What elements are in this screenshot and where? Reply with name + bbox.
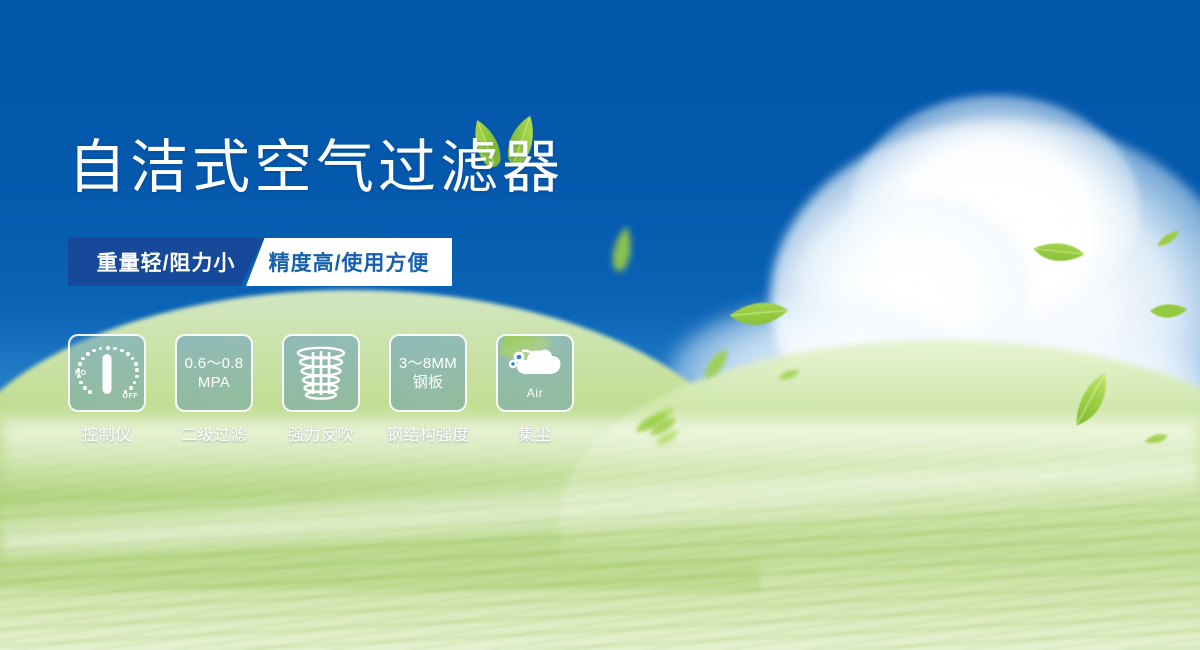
- subtitle-bar: 重量轻/阻力小 精度高/使用方便: [68, 238, 460, 286]
- cloud-air-icon: [507, 348, 563, 384]
- cloud-right-lobe: [850, 95, 1140, 325]
- feature-item-dust[interactable]: Air 集尘: [496, 334, 574, 445]
- pressure-unit: MPA: [198, 373, 230, 392]
- floating-leaf-icon: [1147, 291, 1188, 330]
- feature-icon-box: 0.6～0.8 MPA: [175, 334, 253, 412]
- feature-item-pressure[interactable]: 0.6～0.8 MPA 二级过滤: [175, 334, 253, 445]
- feature-label: 控制仪: [82, 421, 132, 445]
- feature-icon-box: NO OFF: [68, 334, 146, 412]
- floating-leaf-icon: [609, 225, 637, 276]
- page-title: 自洁式空气过滤器: [68, 138, 564, 196]
- gauge-icon: NO OFF: [76, 345, 138, 401]
- feature-label: 钢结构强度: [387, 421, 470, 445]
- pressure-value: 0.6～0.8: [185, 354, 244, 373]
- floating-leaf-icon: [726, 281, 791, 346]
- air-label: Air: [527, 386, 543, 400]
- feature-item-backblow[interactable]: 强力反吹: [282, 334, 360, 445]
- subtitle-segment-dark: 重量轻/阻力小: [68, 238, 264, 286]
- grass-field: [0, 435, 1200, 650]
- feature-label: 强力反吹: [288, 421, 354, 445]
- feature-icon-box: [282, 334, 360, 412]
- product-banner: 自洁式空气过滤器 重量轻/阻力小 精度高/使用方便: [0, 0, 1200, 650]
- subtitle-segment-light: 精度高/使用方便: [246, 238, 452, 286]
- floating-leaf-icon: [1154, 229, 1182, 248]
- filter-rings-icon: [296, 346, 346, 400]
- steel-material: 钢板: [413, 373, 444, 392]
- feature-icon-box: 3～8MM 钢板: [389, 334, 467, 412]
- feature-icon-box: Air: [496, 334, 574, 412]
- feature-item-controller[interactable]: NO OFF 控制仪: [68, 334, 146, 445]
- feature-list: NO OFF 控制仪 0.6～0.8 MPA 二级过滤: [68, 334, 574, 445]
- feature-label: 二级过滤: [181, 421, 247, 445]
- gauge-needle: [103, 354, 112, 394]
- feature-label: 集尘: [518, 421, 551, 445]
- feature-item-steel[interactable]: 3～8MM 钢板 钢结构强度: [389, 334, 467, 445]
- floating-leaf-icon: [1030, 225, 1086, 279]
- gauge-label-no: NO: [75, 370, 87, 377]
- steel-thickness: 3～8MM: [399, 354, 457, 373]
- gauge-label-off: OFF: [123, 393, 139, 400]
